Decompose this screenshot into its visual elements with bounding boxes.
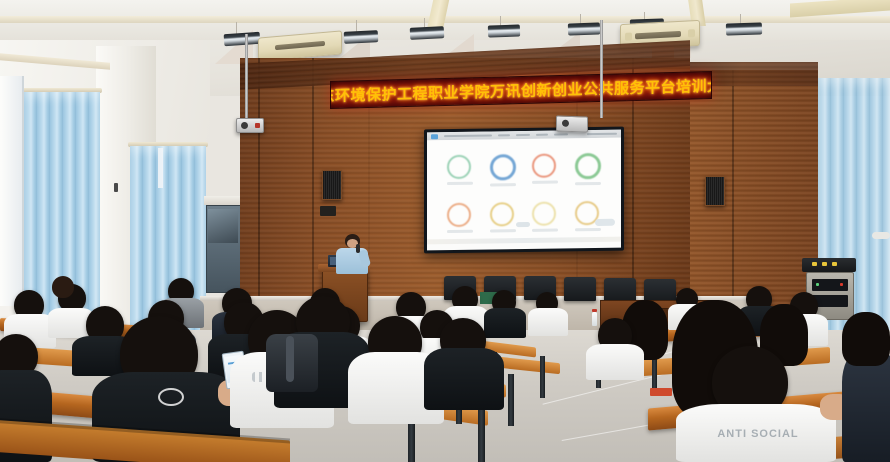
projector-lens-right-icon: [562, 120, 569, 127]
projector-mount-pole-right: [600, 20, 603, 118]
side-window-sill: [204, 196, 244, 205]
service-label-2: [490, 183, 516, 186]
curtain-handle-right: [872, 232, 890, 239]
service-icon-6-wrap: [490, 202, 516, 232]
projector-mount-pole: [245, 34, 248, 122]
presenter-microphone: [356, 244, 360, 253]
service-icon-3[interactable]: [532, 153, 556, 177]
service-icon-5[interactable]: [447, 202, 471, 226]
amp-led-3: [832, 262, 837, 266]
service-label-1: [447, 181, 473, 184]
audience-torso-far-9: [484, 308, 526, 338]
service-icon-grid: [439, 152, 610, 232]
amp-led-2: [822, 262, 827, 266]
ceiling-light-1: [224, 32, 261, 46]
ceiling-projector-right: [556, 115, 588, 132]
desk-leg-2: [540, 356, 545, 398]
nav-item-1[interactable]: [498, 134, 510, 136]
wall-fitting-left: [320, 206, 336, 216]
rack-top-amplifier: [802, 258, 856, 272]
stage-chair-4[interactable]: [564, 277, 596, 301]
service-icon-5-wrap: [447, 202, 473, 232]
service-icon-2[interactable]: [490, 154, 516, 180]
light-hanger-1: [236, 22, 237, 34]
rack-indicator-green: [816, 283, 819, 286]
water-bottle-2[interactable]: [592, 312, 597, 326]
wall-speaker-right: [705, 176, 725, 206]
ceiling-projector: [236, 118, 264, 133]
projected-page-body: [427, 138, 621, 245]
service-icon-8-wrap: [575, 200, 601, 230]
rack-indicator-red: [840, 283, 843, 286]
service-icon-1-wrap: [447, 154, 473, 186]
ceiling-light-4: [488, 24, 520, 37]
shirt-slogan-text: ANTI SOCIAL: [688, 428, 828, 440]
service-label-5: [447, 229, 473, 232]
projector-indicator: [255, 123, 260, 128]
audience-torso-far-10: [528, 308, 568, 336]
wall-switch[interactable]: [114, 183, 118, 192]
page-more-button[interactable]: [516, 222, 530, 227]
service-label-7: [532, 228, 558, 231]
service-icon-6[interactable]: [490, 202, 514, 226]
window-frame-left: [0, 76, 24, 306]
service-icon-4[interactable]: [575, 152, 601, 178]
service-icon-4-wrap: [575, 152, 601, 184]
stage-chair-5[interactable]: [604, 278, 636, 302]
service-icon-3-wrap: [532, 153, 558, 185]
service-label-6: [490, 229, 516, 232]
service-icon-7[interactable]: [532, 201, 556, 225]
service-label-3: [532, 180, 558, 183]
backpack-strap: [286, 336, 294, 382]
nav-item-login[interactable]: [587, 133, 617, 135]
projector-lens-icon: [241, 122, 248, 129]
anti-social-shirt-slogan-wrap: ANTI SOCIAL: [688, 428, 828, 440]
page-footer-strip: [427, 237, 621, 245]
audience-head-far-3: [52, 276, 74, 298]
projector-screen: [427, 130, 621, 251]
water-bottle-2-cap: [592, 309, 597, 312]
projector-screen-frame: [424, 127, 624, 254]
service-label-4: [575, 181, 601, 184]
red-book-1[interactable]: [650, 388, 672, 396]
service-icon-1[interactable]: [447, 154, 471, 178]
student-with-phone-logo-icon: [158, 388, 184, 406]
page-side-widget[interactable]: [595, 219, 615, 226]
lecture-hall-photo: 广东环境保护工程职业学院万讯创新创业公共服务平台培训大会: [0, 0, 890, 462]
service-icon-2-wrap: [490, 154, 516, 186]
ceiling-light-3: [410, 26, 445, 40]
ceiling-light-2: [344, 30, 379, 44]
audience-head-near-right-edge: [842, 312, 890, 366]
nav-item-3[interactable]: [536, 134, 548, 136]
audience-torso-near-right-edge: [842, 352, 890, 462]
amp-led-1: [812, 262, 817, 266]
nav-item-title[interactable]: [444, 134, 492, 137]
nav-item-2[interactable]: [516, 134, 530, 136]
service-icon-7-wrap: [532, 201, 558, 231]
service-label-8: [575, 227, 601, 230]
ceiling-light-5: [568, 22, 600, 35]
audience-torso-near-7: [586, 344, 644, 380]
ceiling-light-7: [726, 22, 762, 35]
site-logo-icon: [431, 134, 438, 139]
curtain-gap: [158, 148, 163, 188]
audience-torso-near-5: [424, 348, 504, 410]
nav-item-4[interactable]: [554, 133, 568, 135]
wall-speaker-left: [322, 170, 342, 200]
desk-leg-4: [508, 374, 514, 426]
side-window-glass: [208, 209, 238, 243]
